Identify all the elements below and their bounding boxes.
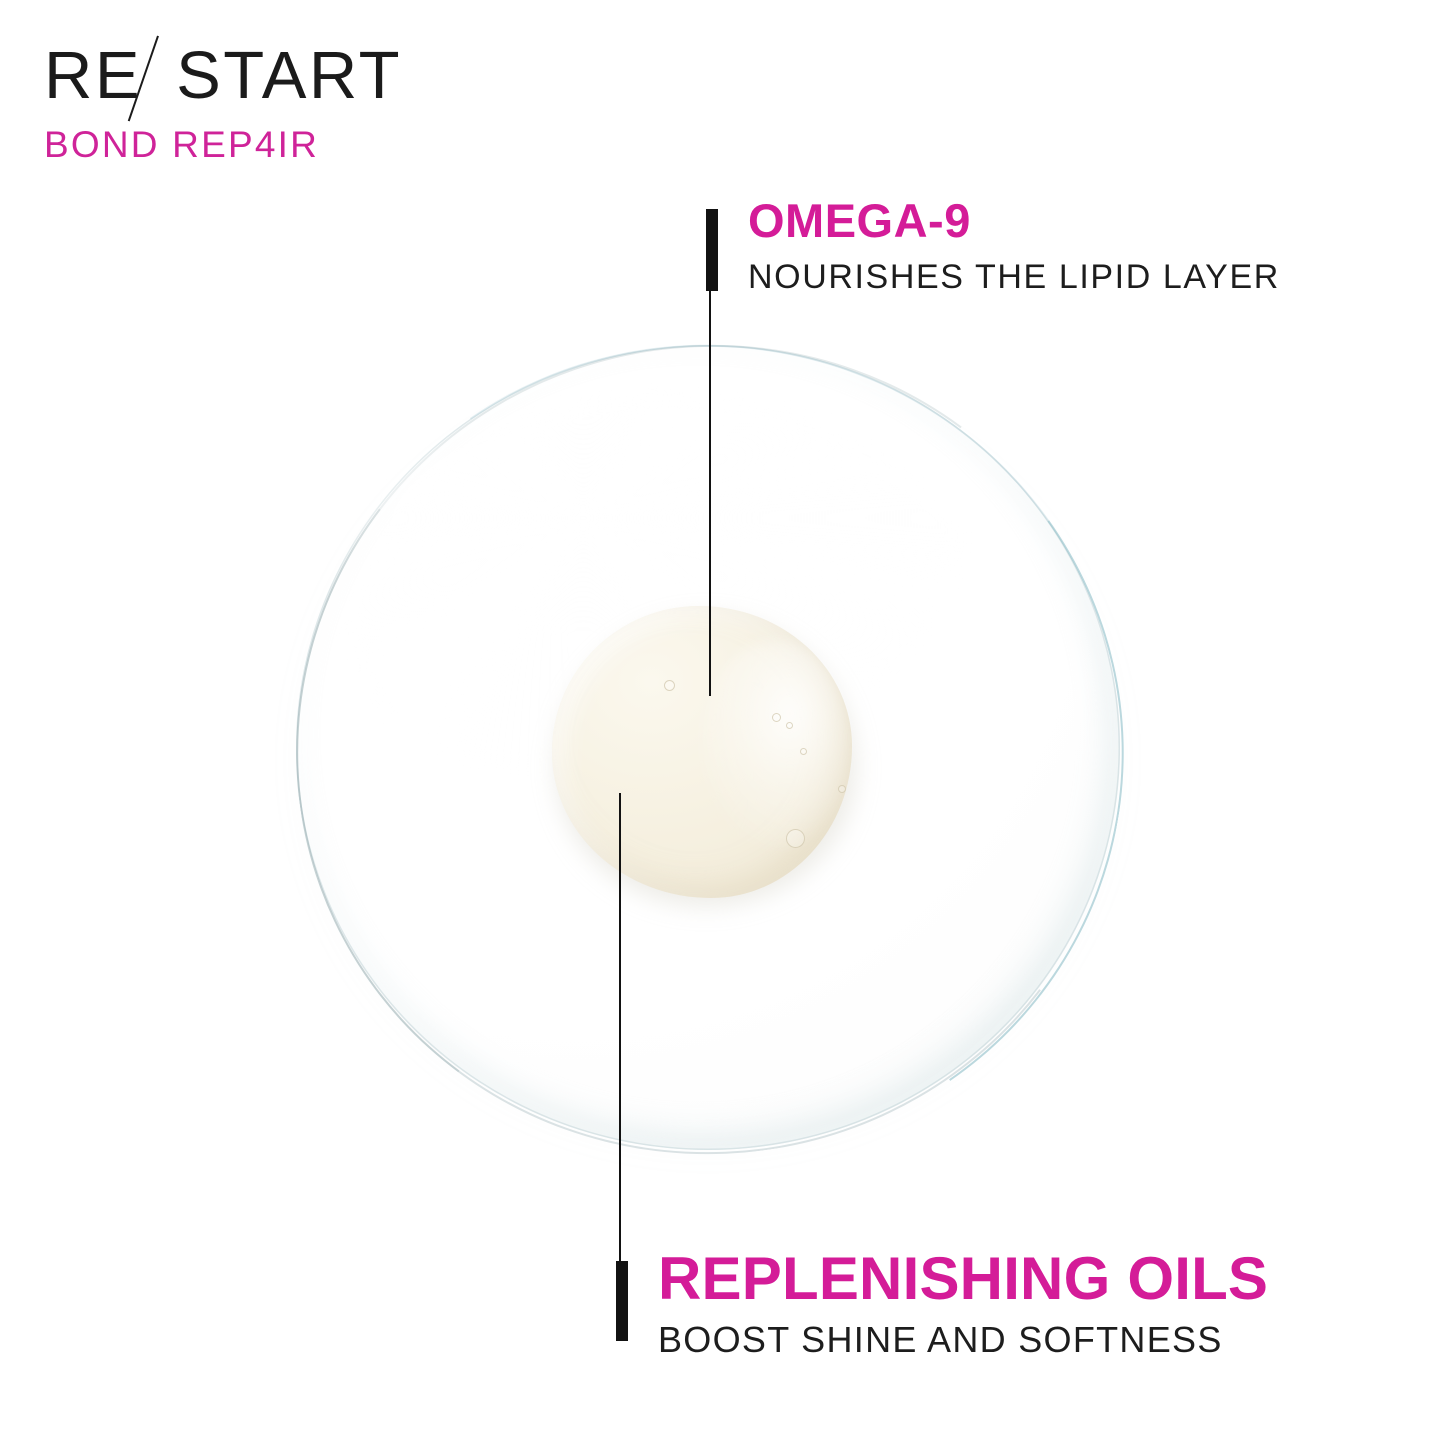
callout-title-replenishing-oils: REPLENISHING OILS — [658, 1249, 1268, 1309]
callout-omega-9: OMEGA-9 NOURISHES THE LIPID LAYER — [748, 197, 1280, 294]
callout-subtitle-replenishing-oils: BOOST SHINE AND SOFTNESS — [658, 1322, 1268, 1358]
brand-subtitle: BOND REP4IR — [44, 126, 464, 163]
droplet-sheen-highlight — [700, 640, 850, 850]
callout-tick-bar-omega-9 — [706, 209, 718, 291]
droplet-bubble — [786, 829, 805, 848]
callout-leader-line-replenishing-oils — [619, 793, 621, 1263]
callout-title-omega-9: OMEGA-9 — [748, 197, 1280, 244]
brand-wordmark-re: RE — [44, 42, 142, 109]
product-ingredient-graphic: RESTART BOND REP4IR OMEGA-9 NOURISHES TH… — [0, 0, 1445, 1445]
brand-wordmark: RESTART — [44, 42, 464, 114]
callout-subtitle-omega-9: NOURISHES THE LIPID LAYER — [748, 260, 1280, 294]
callout-leader-line-omega-9 — [709, 288, 711, 696]
brand-wordmark-start: START — [176, 42, 402, 109]
callout-tick-bar-replenishing-oils — [616, 1261, 628, 1341]
brand-subtitle-main: BOND REP — [44, 124, 255, 165]
brand-subtitle-numeral: 4 — [255, 124, 278, 165]
droplet-bubble — [800, 748, 807, 755]
brand-logo: RESTART BOND REP4IR — [44, 42, 464, 163]
droplet-bubble — [664, 680, 675, 691]
brand-subtitle-tail: IR — [278, 124, 319, 165]
droplet-bubble — [772, 713, 781, 722]
brand-slash-icon — [142, 42, 176, 114]
droplet-bubble — [838, 785, 846, 793]
callout-replenishing-oils: REPLENISHING OILS BOOST SHINE AND SOFTNE… — [658, 1249, 1268, 1358]
droplet-bubble — [786, 722, 793, 729]
